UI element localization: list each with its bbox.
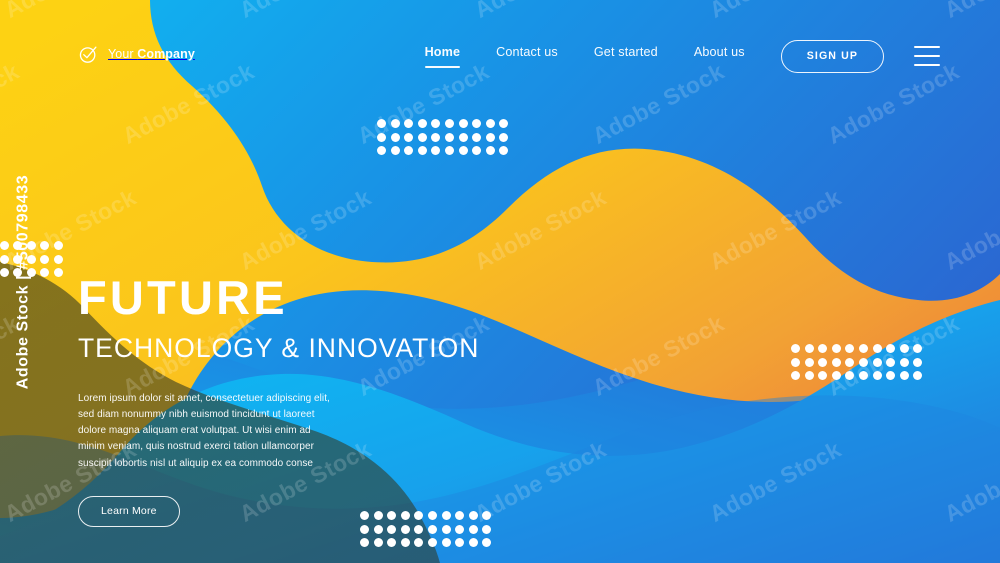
brand-name-bold: Company <box>137 47 195 61</box>
nav-item-about-us[interactable]: About us <box>694 45 745 68</box>
dot-grid-decoration-left <box>0 241 63 277</box>
brand-name: Your Company <box>108 47 195 61</box>
dot-grid-decoration-top <box>377 119 508 155</box>
site-header: Your Company Home Contact us Get started… <box>0 0 1000 112</box>
hero-title: FUTURE <box>78 274 548 321</box>
learn-more-button[interactable]: Learn More <box>78 496 180 527</box>
nav-item-contact-us[interactable]: Contact us <box>496 45 558 68</box>
nav-item-get-started[interactable]: Get started <box>594 45 658 68</box>
hero-section: FUTURE TECHNOLOGY & INNOVATION Lorem ips… <box>78 274 548 527</box>
hamburger-bar-1 <box>914 46 940 48</box>
hero-description: Lorem ipsum dolor sit amet, consectetuer… <box>78 391 338 472</box>
sign-up-button[interactable]: SIGN UP <box>781 40 884 73</box>
nav-item-home[interactable]: Home <box>425 45 461 68</box>
dot-grid-decoration-right <box>791 344 922 380</box>
hamburger-bar-3 <box>914 64 940 66</box>
hamburger-menu-icon[interactable] <box>914 46 940 66</box>
hero-subtitle: TECHNOLOGY & INNOVATION <box>78 335 548 363</box>
check-circle-icon <box>78 44 99 65</box>
main-navigation: Home Contact us Get started About us SIG… <box>425 40 940 73</box>
hamburger-bar-2 <box>914 55 940 57</box>
landing-page-hero: Adobe StockAdobe StockAdobe StockAdobe S… <box>0 0 1000 563</box>
brand-name-light: Your <box>108 47 137 61</box>
brand-logo[interactable]: Your Company <box>78 44 195 65</box>
